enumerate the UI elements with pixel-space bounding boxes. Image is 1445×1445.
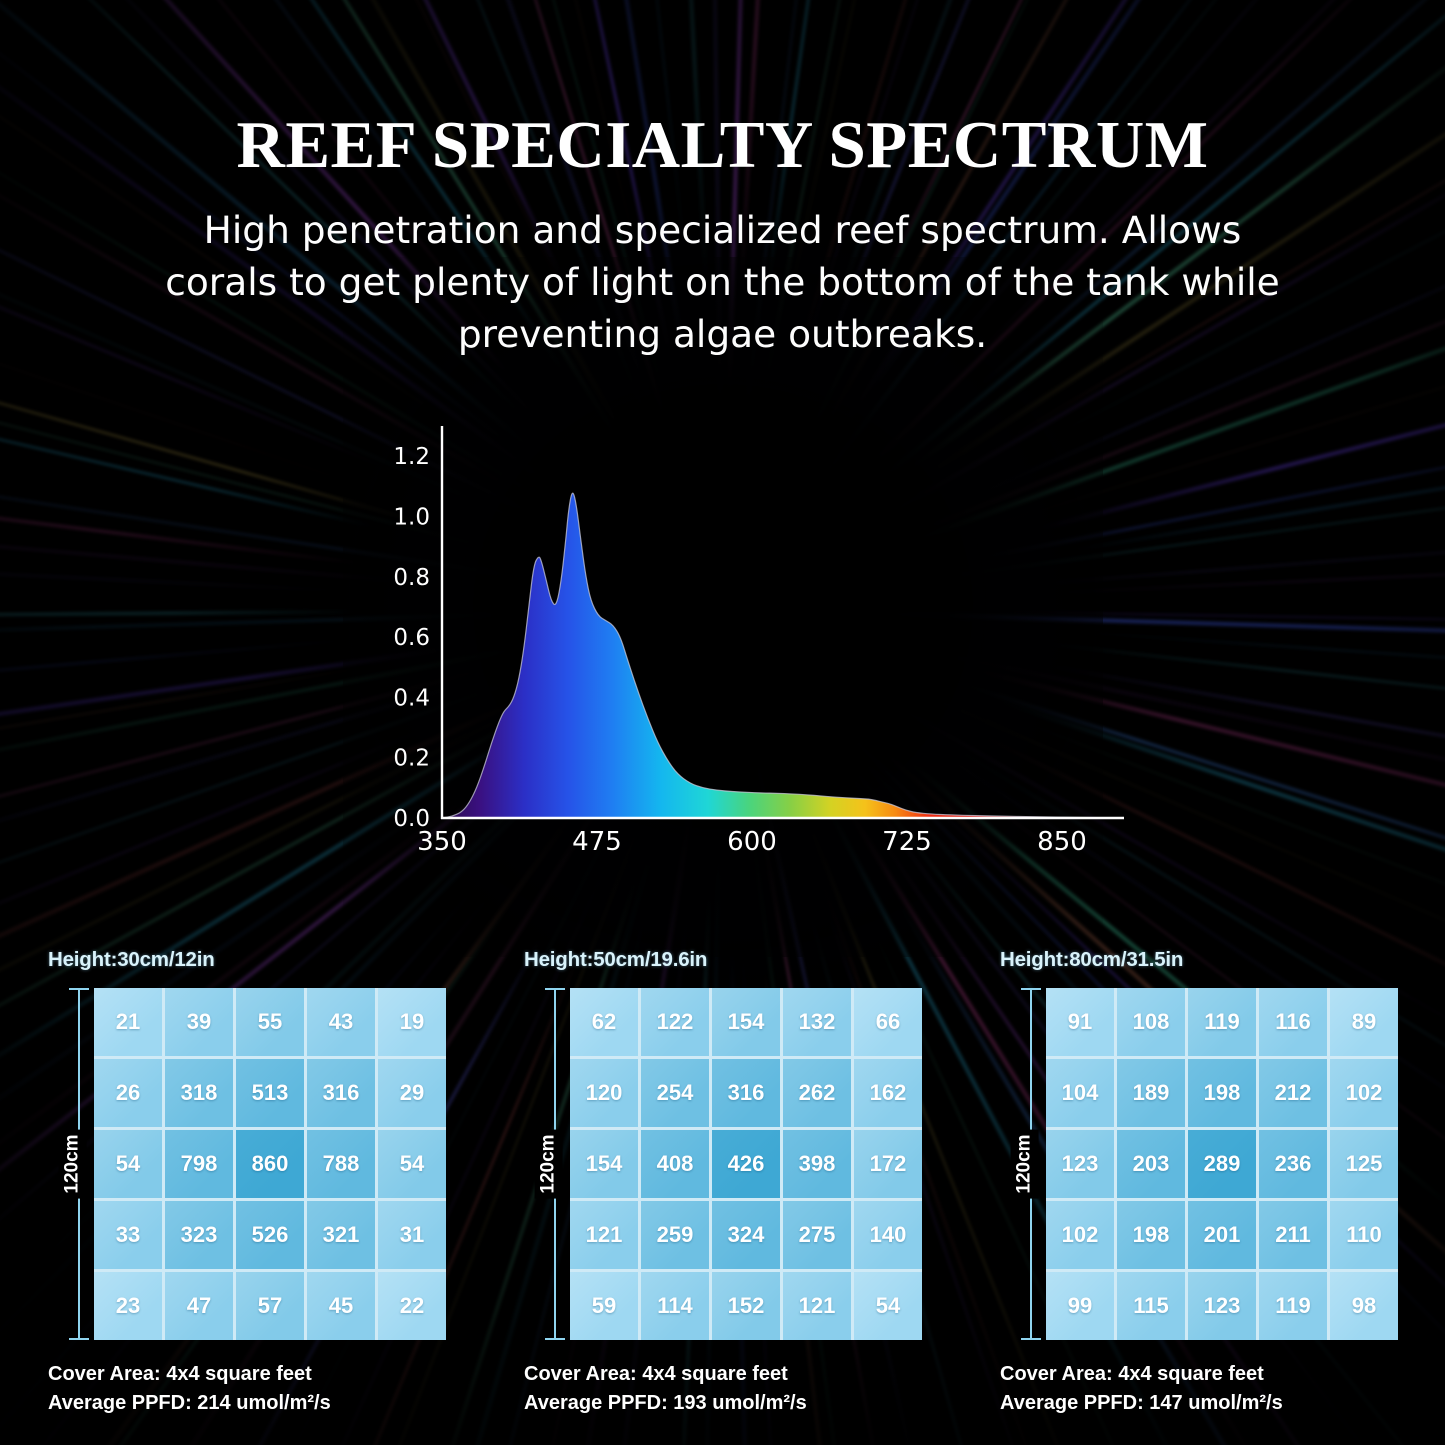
light-ray [0,494,418,584]
ppfd-cell: 323 [165,1201,233,1269]
ppfd-cell: 108 [1117,988,1185,1056]
spectrum-chart: 0.00.20.40.60.81.01.2350475600725850 [380,418,1140,880]
ppfd-cell: 23 [94,1272,162,1340]
dimension-label: 120cm [535,1129,563,1198]
ppfd-cell: 98 [1330,1272,1398,1340]
ppfd-cell: 54 [94,1130,162,1198]
light-ray [0,639,345,743]
ppfd-cell: 19 [378,988,446,1056]
light-ray [0,539,348,593]
x-tick-label: 725 [882,827,932,857]
panel-body: 120cm91108119116891041891982121021232032… [1000,988,1398,1340]
ppfd-grid: 9110811911689104189198212102123203289236… [1046,988,1398,1340]
y-tick-label: 0.4 [393,685,430,711]
ppfd-cell: 54 [854,1272,922,1340]
ppfd-cell: 140 [854,1201,922,1269]
ppfd-panels: Height:30cm/12in120cm2139554319263185133… [0,948,1445,1438]
spectrum-area [442,493,1124,818]
ppfd-cell: 54 [378,1130,446,1198]
ppfd-cell: 125 [1330,1130,1398,1198]
ppfd-cell: 162 [854,1059,922,1127]
ppfd-cell: 398 [783,1130,851,1198]
dimension-label: 120cm [59,1129,87,1198]
dimension-cap-bottom [69,1338,89,1340]
cover-area-text: Cover Area: 4x4 square feet [48,1360,446,1389]
ppfd-cell: 120 [570,1059,638,1127]
ppfd-panel: Height:80cm/31.5in120cm91108119116891041… [1000,948,1398,1418]
y-tick-label: 0.2 [393,746,430,772]
ppfd-cell: 47 [165,1272,233,1340]
ppfd-cell: 259 [641,1201,709,1269]
ppfd-cell: 59 [570,1272,638,1340]
light-ray [0,351,373,527]
ppfd-cell: 57 [236,1272,304,1340]
ppfd-cell: 203 [1117,1130,1185,1198]
light-ray [0,666,367,817]
ppfd-cell: 123 [1188,1272,1256,1340]
ppfd-cell: 154 [570,1130,638,1198]
panel-heading: Height:30cm/12in [48,948,446,972]
ppfd-cell: 62 [570,988,638,1056]
ppfd-cell: 39 [165,988,233,1056]
average-ppfd-text: Average PPFD: 214 umol/m²/s [48,1389,446,1418]
panel-body: 120cm62122154132661202543162621621544084… [524,988,922,1340]
ppfd-cell: 132 [783,988,851,1056]
ppfd-cell: 122 [641,988,709,1056]
ppfd-cell: 33 [94,1201,162,1269]
ppfd-cell: 189 [1117,1059,1185,1127]
ppfd-cell: 211 [1259,1201,1327,1269]
panel-heading: Height:80cm/31.5in [1000,948,1398,972]
ppfd-cell: 110 [1330,1201,1398,1269]
ppfd-cell: 321 [307,1201,375,1269]
ppfd-cell: 91 [1046,988,1114,1056]
y-tick-label: 0.6 [393,625,430,651]
average-ppfd-text: Average PPFD: 147 umol/m²/s [1000,1389,1398,1418]
average-ppfd-text: Average PPFD: 193 umol/m²/s [524,1389,922,1418]
y-tick-label: 1.2 [393,444,430,470]
ppfd-cell: 22 [378,1272,446,1340]
ppfd-cell: 426 [712,1130,780,1198]
x-tick-label: 350 [417,827,467,857]
y-tick-label: 1.0 [393,505,430,531]
y-tick-label: 0.8 [393,565,430,591]
ppfd-cell: 102 [1046,1201,1114,1269]
ppfd-cell: 31 [378,1201,446,1269]
ppfd-cell: 114 [641,1272,709,1340]
ppfd-cell: 798 [165,1130,233,1198]
panel-footer: Cover Area: 4x4 square feetAverage PPFD:… [524,1360,922,1418]
ppfd-cell: 262 [783,1059,851,1127]
dimension-cap-top [1021,988,1041,990]
ppfd-cell: 198 [1117,1201,1185,1269]
ppfd-cell: 513 [236,1059,304,1127]
dimension-cap-top [69,988,89,990]
dimension-indicator: 120cm [524,988,570,1340]
ppfd-cell: 66 [854,988,922,1056]
ppfd-cell: 121 [783,1272,851,1340]
ppfd-cell: 172 [854,1130,922,1198]
ppfd-cell: 119 [1188,988,1256,1056]
dimension-indicator: 120cm [1000,988,1046,1340]
ppfd-cell: 43 [307,988,375,1056]
dimension-label: 120cm [1011,1129,1039,1198]
dimension-indicator: 120cm [48,988,94,1340]
dimension-cap-bottom [1021,1338,1041,1340]
ppfd-cell: 121 [570,1201,638,1269]
ppfd-cell: 275 [783,1201,851,1269]
header: REEF SPECIALTY SPECTRUM High penetration… [0,112,1445,360]
ppfd-cell: 89 [1330,988,1398,1056]
ppfd-cell: 254 [641,1059,709,1127]
ppfd-cell: 212 [1259,1059,1327,1127]
ppfd-cell: 99 [1046,1272,1114,1340]
ppfd-cell: 102 [1330,1059,1398,1127]
ppfd-cell: 154 [712,988,780,1056]
ppfd-cell: 324 [712,1201,780,1269]
ppfd-cell: 123 [1046,1130,1114,1198]
ppfd-cell: 236 [1259,1130,1327,1198]
ppfd-cell: 198 [1188,1059,1256,1127]
x-tick-label: 475 [572,827,622,857]
ppfd-cell: 45 [307,1272,375,1340]
ppfd-cell: 860 [236,1130,304,1198]
ppfd-cell: 119 [1259,1272,1327,1340]
ppfd-panel: Height:30cm/12in120cm2139554319263185133… [48,948,446,1418]
ppfd-cell: 104 [1046,1059,1114,1127]
ppfd-cell: 318 [165,1059,233,1127]
page-title: REEF SPECIALTY SPECTRUM [0,112,1445,179]
light-ray [0,610,359,620]
panel-heading: Height:50cm/19.6in [524,948,922,972]
light-ray [0,419,360,565]
ppfd-cell: 289 [1188,1130,1256,1198]
spectrum-chart-svg: 0.00.20.40.60.81.01.2350475600725850 [380,418,1140,880]
ppfd-cell: 116 [1259,988,1327,1056]
x-tick-label: 600 [727,827,777,857]
reef-spectrum-infographic: REEF SPECIALTY SPECTRUM High penetration… [0,0,1445,1445]
ppfd-cell: 408 [641,1130,709,1198]
ppfd-cell: 316 [712,1059,780,1127]
cover-area-text: Cover Area: 4x4 square feet [524,1360,922,1389]
page-subtitle: High penetration and specialized reef sp… [143,205,1303,360]
ppfd-cell: 201 [1188,1201,1256,1269]
ppfd-cell: 29 [378,1059,446,1127]
dimension-cap-top [545,988,565,990]
ppfd-cell: 316 [307,1059,375,1127]
ppfd-cell: 21 [94,988,162,1056]
ppfd-cell: 115 [1117,1272,1185,1340]
ppfd-grid: 2139554319263185133162954798860788543332… [94,988,446,1340]
panel-body: 120cm21395543192631851331629547988607885… [48,988,446,1340]
ppfd-cell: 55 [236,988,304,1056]
ppfd-cell: 788 [307,1130,375,1198]
ppfd-grid: 6212215413266120254316262162154408426398… [570,988,922,1340]
ppfd-panel: Height:50cm/19.6in120cm62122154132661202… [524,948,922,1418]
ppfd-cell: 26 [94,1059,162,1127]
x-tick-label: 850 [1037,827,1087,857]
panel-footer: Cover Area: 4x4 square feetAverage PPFD:… [48,1360,446,1418]
panel-footer: Cover Area: 4x4 square feetAverage PPFD:… [1000,1360,1398,1418]
ppfd-cell: 526 [236,1201,304,1269]
dimension-cap-bottom [545,1338,565,1340]
ppfd-cell: 152 [712,1272,780,1340]
cover-area-text: Cover Area: 4x4 square feet [1000,1360,1398,1389]
